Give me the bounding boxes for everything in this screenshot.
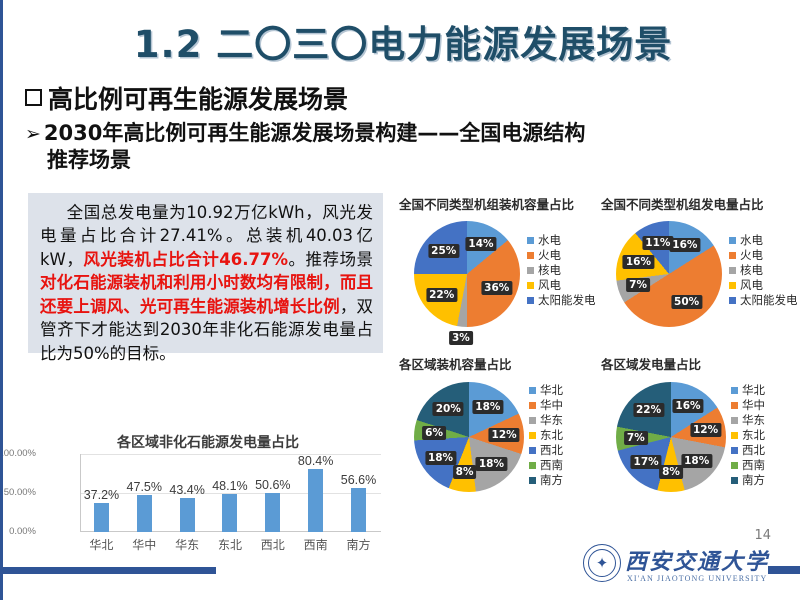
bar-chart-bar-group[interactable]: 43.4% xyxy=(166,454,208,532)
section-heading-2: ➢2030年高比例可再生能源发展场景构建——全国电源结构 推荐场景 xyxy=(25,120,785,173)
section-heading-2-line2: 推荐场景 xyxy=(47,147,785,174)
legend-item[interactable]: 南方 xyxy=(529,473,563,487)
pie-chart-regional-generation: 各区域发电量占比 16%12%18%8%17%7%22%华北华中华东东北西北西南… xyxy=(601,354,800,516)
pie-chart-value-label: 36% xyxy=(481,281,512,295)
legend-swatch xyxy=(731,447,738,454)
legend-label: 南方 xyxy=(540,472,563,488)
bar-chart-y-tick: 0.00% xyxy=(0,526,36,537)
legend-swatch xyxy=(529,432,536,439)
bar-chart-category-label: 华东 xyxy=(166,536,208,553)
legend-item[interactable]: 华北 xyxy=(731,383,765,397)
section-heading-1-label: 高比例可再生能源发展场景 xyxy=(48,85,348,114)
legend-item[interactable]: 西南 xyxy=(529,458,563,472)
legend-swatch xyxy=(527,237,534,244)
legend-label: 华中 xyxy=(540,397,563,413)
pie-chart-value-label: 12% xyxy=(489,428,520,442)
legend-item[interactable]: 华东 xyxy=(529,413,563,427)
footer-rule-left xyxy=(3,567,216,574)
bar-chart-value-label: 56.6% xyxy=(341,473,376,487)
legend-item[interactable]: 华中 xyxy=(529,398,563,412)
legend-label: 华北 xyxy=(540,382,563,398)
section-heading-2-line1: 2030年高比例可再生能源发展场景构建——全国电源结构 xyxy=(44,121,585,145)
bar-chart-category-label: 南方 xyxy=(337,536,379,553)
bar-chart-category-label: 华中 xyxy=(123,536,165,553)
pie-chart-value-label: 17% xyxy=(631,455,662,469)
legend-label: 水电 xyxy=(740,232,763,248)
legend-item[interactable]: 东北 xyxy=(529,428,563,442)
bar-chart-value-label: 47.5% xyxy=(127,480,162,494)
legend-swatch xyxy=(529,402,536,409)
legend-item[interactable]: 西南 xyxy=(731,458,765,472)
pie-chart-value-label: 16% xyxy=(672,399,703,413)
legend-label: 核电 xyxy=(740,262,763,278)
bar-chart-y-tick: 100.00% xyxy=(0,448,36,459)
legend-swatch xyxy=(527,297,534,304)
pie-chart-national-generation: 全国不同类型机组发电量占比 16%50%7%16%11%水电火电核电风电太阳能发… xyxy=(601,194,800,350)
legend-item[interactable]: 水电 xyxy=(527,233,596,247)
legend-item[interactable]: 太阳能发电 xyxy=(729,293,798,307)
legend-label: 太阳能发电 xyxy=(538,292,596,308)
legend-label: 火电 xyxy=(538,247,561,263)
pie-chart-legend: 华北华中华东东北西北西南南方 xyxy=(731,383,765,488)
legend-swatch xyxy=(731,417,738,424)
pie-chart-value-label: 50% xyxy=(671,295,702,309)
legend-item[interactable]: 水电 xyxy=(729,233,798,247)
pie-chart-value-label: 14% xyxy=(465,237,496,251)
legend-label: 西南 xyxy=(742,457,765,473)
legend-swatch xyxy=(529,447,536,454)
bar-chart-title: 各区域非化石能源发电量占比 xyxy=(28,432,388,452)
university-logo: ✦ 西安交通大学 XI'AN JIAOTONG UNIVERSITY xyxy=(583,540,768,590)
legend-item[interactable]: 西北 xyxy=(529,443,563,457)
legend-swatch xyxy=(729,267,736,274)
bar-chart-bar[interactable] xyxy=(351,488,366,532)
bar-chart-category-label: 西北 xyxy=(252,536,294,553)
bar-chart-value-label: 50.6% xyxy=(255,478,290,492)
legend-label: 南方 xyxy=(742,472,765,488)
summary-seg-3: 。推荐场景 xyxy=(288,250,373,269)
bar-chart-value-label: 37.2% xyxy=(84,488,119,502)
legend-swatch xyxy=(527,267,534,274)
legend-label: 西北 xyxy=(742,442,765,458)
legend-swatch xyxy=(527,252,534,259)
pie-chart-legend: 水电火电核电风电太阳能发电 xyxy=(729,233,798,308)
summary-seg-4-highlight: 对化石能源装机和利用小时数均有限制，而且还要上调风、光可再生能源装机增长比例 xyxy=(40,273,373,315)
legend-item[interactable]: 东北 xyxy=(731,428,765,442)
pie-chart-body: 18%12%18%8%18%6%20%华北华中华东东北西北西南南方 xyxy=(399,371,599,507)
bar-chart-bar-group[interactable]: 50.6% xyxy=(252,454,294,532)
bar-chart-bar[interactable] xyxy=(94,503,109,532)
pie-chart-value-label: 7% xyxy=(624,431,648,445)
legend-label: 华中 xyxy=(742,397,765,413)
legend-swatch xyxy=(729,237,736,244)
pie-chart-value-label: 18% xyxy=(472,400,503,414)
bar-chart-bar-group[interactable]: 37.2% xyxy=(80,454,122,532)
legend-swatch xyxy=(529,477,536,484)
pie-chart-value-label: 11% xyxy=(642,236,673,250)
bar-chart-category-label: 华北 xyxy=(80,536,122,553)
bar-chart-bar-group[interactable]: 56.6% xyxy=(337,454,379,532)
legend-label: 核电 xyxy=(538,262,561,278)
pie-chart-value-label: 18% xyxy=(681,454,712,468)
pie-chart-national-capacity: 全国不同类型机组装机容量占比 14%36%3%22%25%水电火电核电风电太阳能… xyxy=(399,194,599,350)
pie-chart-value-label: 20% xyxy=(433,402,464,416)
section-heading-1: 高比例可再生能源发展场景 xyxy=(25,80,348,116)
legend-item[interactable]: 华中 xyxy=(731,398,765,412)
pie-chart-value-label: 16% xyxy=(669,238,700,252)
pie-chart-value-label: 7% xyxy=(626,278,650,292)
footer-rule-right xyxy=(768,566,800,574)
legend-swatch xyxy=(529,387,536,394)
pie-chart-legend: 水电火电核电风电太阳能发电 xyxy=(527,233,596,308)
pie-chart-value-label: 22% xyxy=(426,288,457,302)
bar-chart-bar-group[interactable]: 47.5% xyxy=(123,454,165,532)
legend-swatch xyxy=(731,402,738,409)
legend-item[interactable]: 火电 xyxy=(729,248,798,262)
legend-item[interactable]: 风电 xyxy=(527,278,596,292)
pie-chart-body: 16%50%7%16%11%水电火电核电风电太阳能发电 xyxy=(601,211,800,347)
bar-chart-bars: 37.2%47.5%43.4%48.1%50.6%80.4%56.6% xyxy=(80,454,380,532)
bar-chart-regional-nonfossil: 各区域非化石能源发电量占比 37.2%47.5%43.4%48.1%50.6%8… xyxy=(28,432,388,562)
pie-chart-value-label: 8% xyxy=(659,465,683,479)
summary-seg-2-highlight: 风光装机占比合计46.77% xyxy=(83,250,288,269)
bar-chart-category-label: 东北 xyxy=(209,536,251,553)
legend-swatch xyxy=(731,432,738,439)
slide-canvas: 1.2 二〇三〇电力能源发展场景 高比例可再生能源发展场景 ➢2030年高比例可… xyxy=(0,0,800,600)
bar-chart-category-label: 西南 xyxy=(295,536,337,553)
legend-item[interactable]: 华东 xyxy=(731,413,765,427)
legend-label: 太阳能发电 xyxy=(740,292,798,308)
legend-item[interactable]: 风电 xyxy=(729,278,798,292)
pie-chart-value-label: 25% xyxy=(428,244,459,258)
bar-chart-y-tick: 50.00% xyxy=(0,487,36,498)
legend-label: 风电 xyxy=(538,277,561,293)
legend-label: 东北 xyxy=(742,427,765,443)
pie-chart-value-label: 18% xyxy=(425,451,456,465)
legend-item[interactable]: 华北 xyxy=(529,383,563,397)
legend-label: 火电 xyxy=(740,247,763,263)
square-bullet-icon xyxy=(25,89,42,106)
seal-inner-glyph: ✦ xyxy=(588,549,616,577)
legend-swatch xyxy=(527,282,534,289)
bar-chart-bar-group[interactable]: 48.1% xyxy=(209,454,251,532)
pie-chart-body: 16%12%18%8%17%7%22%华北华中华东东北西北西南南方 xyxy=(601,371,800,507)
bar-chart-bar[interactable] xyxy=(137,495,152,532)
legend-label: 西南 xyxy=(540,457,563,473)
bar-chart-bar-group[interactable]: 80.4% xyxy=(295,454,337,532)
bar-chart-bar[interactable] xyxy=(265,493,280,532)
legend-item[interactable]: 核电 xyxy=(729,263,798,277)
pie-chart-body: 14%36%3%22%25%水电火电核电风电太阳能发电 xyxy=(399,211,599,347)
bar-chart-bar[interactable] xyxy=(180,498,195,532)
bar-chart-value-label: 43.4% xyxy=(169,483,204,497)
legend-item[interactable]: 西北 xyxy=(731,443,765,457)
seal-icon: ✦ xyxy=(583,544,621,582)
legend-item[interactable]: 火电 xyxy=(527,248,596,262)
pie-chart-value-label: 3% xyxy=(449,331,473,345)
summary-text-panel: 全国总发电量为10.92万亿kWh，风光发电量占比合计27.41%。总装机40.… xyxy=(28,193,383,353)
legend-label: 华东 xyxy=(540,412,563,428)
bar-chart-bar[interactable] xyxy=(222,494,237,532)
pie-chart-value-label: 22% xyxy=(633,403,664,417)
legend-label: 西北 xyxy=(540,442,563,458)
pie-chart-value-label: 18% xyxy=(476,457,507,471)
legend-item[interactable]: 太阳能发电 xyxy=(527,293,596,307)
legend-item[interactable]: 核电 xyxy=(527,263,596,277)
logo-name-en: XI'AN JIAOTONG UNIVERSITY xyxy=(627,574,767,583)
legend-swatch xyxy=(529,417,536,424)
legend-label: 华北 xyxy=(742,382,765,398)
legend-label: 华东 xyxy=(742,412,765,428)
legend-swatch xyxy=(729,297,736,304)
pie-chart-regional-capacity: 各区域装机容量占比 18%12%18%8%18%6%20%华北华中华东东北西北西… xyxy=(399,354,599,516)
legend-label: 东北 xyxy=(540,427,563,443)
pie-chart-value-label: 12% xyxy=(690,423,721,437)
legend-item[interactable]: 南方 xyxy=(731,473,765,487)
pie-chart-value-label: 6% xyxy=(422,426,446,440)
logo-name-cn: 西安交通大学 xyxy=(625,544,769,576)
pie-chart-legend: 华北华中华东东北西北西南南方 xyxy=(529,383,563,488)
bar-chart-bar[interactable] xyxy=(308,469,323,532)
legend-swatch xyxy=(729,282,736,289)
legend-label: 风电 xyxy=(740,277,763,293)
legend-swatch xyxy=(731,477,738,484)
bar-chart-value-label: 80.4% xyxy=(298,454,333,468)
legend-swatch xyxy=(731,462,738,469)
legend-swatch xyxy=(731,387,738,394)
arrow-bullet-icon: ➢ xyxy=(25,122,41,146)
legend-swatch xyxy=(729,252,736,259)
pie-chart-value-label: 8% xyxy=(453,465,477,479)
legend-label: 水电 xyxy=(538,232,561,248)
page-title: 1.2 二〇三〇电力能源发展场景 xyxy=(3,14,800,68)
pie-chart-value-label: 16% xyxy=(623,255,654,269)
legend-swatch xyxy=(529,462,536,469)
bar-chart-value-label: 48.1% xyxy=(212,479,247,493)
bar-chart-category-axis: 华北华中华东东北西北西南南方 xyxy=(80,536,380,553)
